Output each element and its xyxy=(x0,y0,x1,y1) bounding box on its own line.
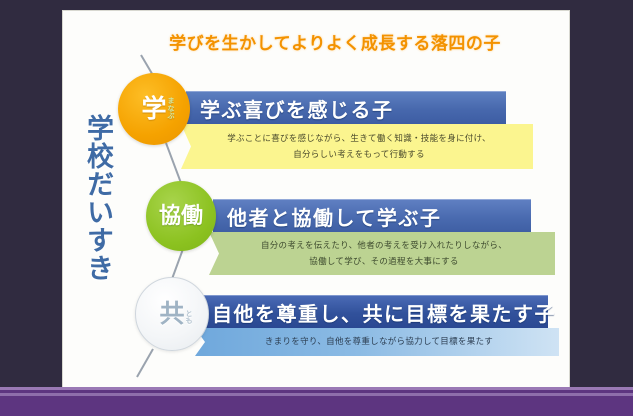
row-1-heading-text: 学ぶ喜びを感じる子 xyxy=(200,94,394,123)
badge-ruby: とも xyxy=(186,311,198,326)
slide-canvas: 学びを生かしてよりよく成長する落四の子 学校だいすき 学ぶことに喜びを感じながら… xyxy=(62,10,570,388)
row-2-heading-text: 他者と協働して学ぶ子 xyxy=(227,202,441,231)
description-line: 協働して学び、その過程を大事にする xyxy=(309,254,458,270)
row-2-heading-band: 他者と協働して学ぶ子 xyxy=(213,199,531,232)
row-3-description: きまりを守り、自他を尊重しながら協力して目標を果たす xyxy=(195,328,559,356)
page-title: 学びを生かしてよりよく成長する落四の子 xyxy=(115,29,555,54)
row-2-description: 自分の考えを伝えたり、他者の考えを受け入れたりしながら、 協働して学び、その過程… xyxy=(209,232,555,275)
row-3-heading-text: 自他を尊重し、共に目標を果たす子 xyxy=(212,298,556,327)
description-line: きまりを守り、自他を尊重しながら協力して目標を果たす xyxy=(265,334,493,350)
description-line: 自分らしい考えをもって行動する xyxy=(293,147,425,163)
row-3-badge-tomo: 共とも xyxy=(135,277,209,351)
row-1-heading-band: 学ぶ喜びを感じる子 xyxy=(186,91,506,124)
screenshot-root: 学びを生かしてよりよく成長する落四の子 学校だいすき 学ぶことに喜びを感じながら… xyxy=(0,0,633,416)
badge-ruby: まなぶ xyxy=(168,98,180,120)
row-1-description: 学ぶことに喜びを感じながら、生きて働く知識・技能を身に付け、 自分らしい考えをも… xyxy=(181,124,533,169)
badge-label: 協働 xyxy=(159,205,203,227)
description-line: 学ぶことに喜びを感じながら、生きて働く知識・技能を身に付け、 xyxy=(227,131,491,147)
vertical-caption: 学校だいすき xyxy=(65,63,111,333)
row-2-badge-kyoudou: 協働 xyxy=(146,181,216,251)
badge-label: 学まなぶ xyxy=(141,97,166,122)
row-1-badge-manabu: 学まなぶ xyxy=(118,73,190,145)
description-line: 自分の考えを伝えたり、他者の考えを受け入れたりしながら、 xyxy=(261,238,507,254)
bottom-accent-strip xyxy=(0,387,633,416)
badge-label: 共とも xyxy=(159,302,184,327)
row-3-heading-band: 自他を尊重し、共に目標を果たす子 xyxy=(198,295,548,328)
bottom-accent-highlight xyxy=(0,393,633,396)
